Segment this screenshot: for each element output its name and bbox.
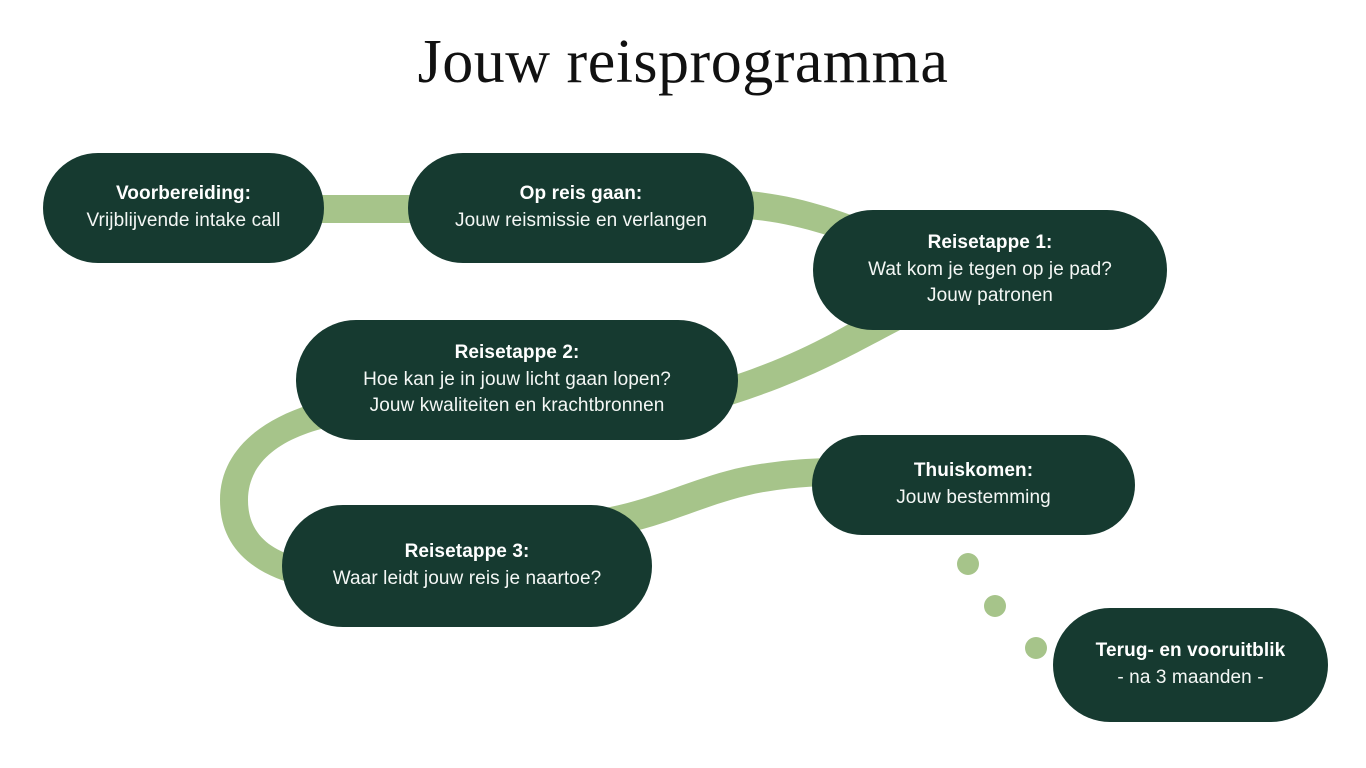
node-op-reis-gaan[interactable]: Op reis gaan: Jouw reismissie en verlang… — [408, 153, 754, 263]
node-title: Thuiskomen: — [914, 458, 1033, 485]
node-subtitle: Jouw reismissie en verlangen — [455, 208, 707, 235]
node-title: Terug- en vooruitblik — [1096, 638, 1286, 665]
node-title: Reisetappe 1: — [928, 230, 1053, 257]
page-title: Jouw reisprogramma — [0, 28, 1366, 96]
node-subtitle: Vrijblijvende intake call — [86, 208, 280, 235]
dot-3 — [1025, 637, 1047, 659]
node-subtitle: Wat kom je tegen op je pad? — [868, 257, 1112, 284]
diagram-canvas: Jouw reisprogramma Voorbereiding: Vrijbl… — [0, 0, 1366, 768]
node-subtitle: Jouw bestemming — [896, 485, 1051, 512]
node-subtitle: Waar leidt jouw reis je naartoe? — [333, 566, 602, 593]
node-title: Reisetappe 3: — [405, 539, 530, 566]
node-title: Op reis gaan: — [520, 181, 643, 208]
node-thuiskomen[interactable]: Thuiskomen: Jouw bestemming — [812, 435, 1135, 535]
dot-2 — [984, 595, 1006, 617]
node-reisetappe-3[interactable]: Reisetappe 3: Waar leidt jouw reis je na… — [282, 505, 652, 627]
node-terug-en-vooruitblik[interactable]: Terug- en vooruitblik - na 3 maanden - — [1053, 608, 1328, 722]
dot-1 — [957, 553, 979, 575]
node-reisetappe-2[interactable]: Reisetappe 2: Hoe kan je in jouw licht g… — [296, 320, 738, 440]
node-title: Reisetappe 2: — [455, 340, 580, 367]
node-reisetappe-1[interactable]: Reisetappe 1: Wat kom je tegen op je pad… — [813, 210, 1167, 330]
node-subtitle-2: Jouw kwaliteiten en krachtbronnen — [370, 393, 665, 420]
node-title: Voorbereiding: — [116, 181, 251, 208]
node-subtitle: Hoe kan je in jouw licht gaan lopen? — [363, 367, 671, 394]
node-voorbereiding[interactable]: Voorbereiding: Vrijblijvende intake call — [43, 153, 324, 263]
node-subtitle: - na 3 maanden - — [1117, 665, 1263, 692]
node-subtitle-2: Jouw patronen — [927, 283, 1053, 310]
